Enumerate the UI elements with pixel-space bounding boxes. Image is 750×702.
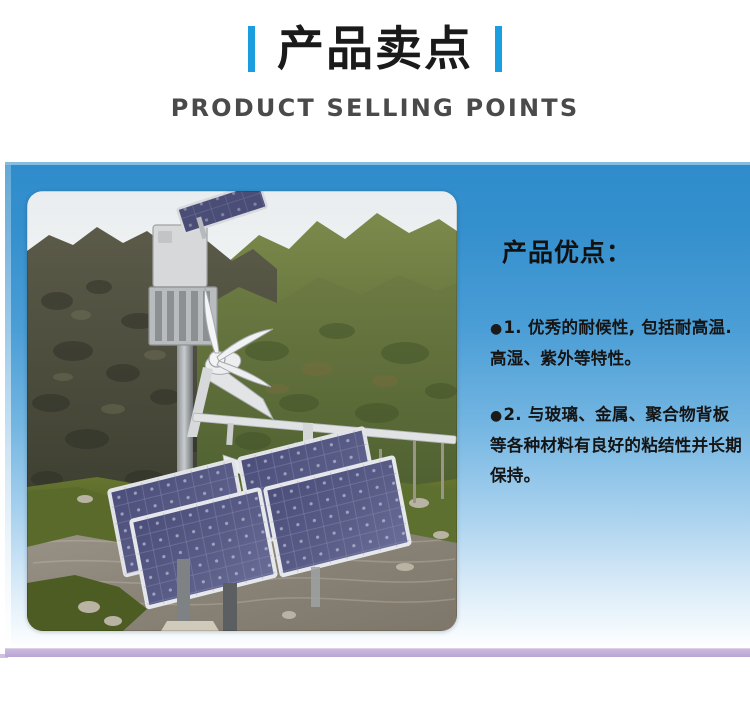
page-subtitle: PRODUCT SELLING POINTS — [0, 94, 750, 122]
divider-bar — [5, 648, 750, 657]
feature-panel: 产品优点： ●1. 优秀的耐候性, 包括耐高温. 高湿、紫外等特性。 ●2. 与… — [5, 162, 750, 649]
product-photo-illustration — [27, 191, 457, 631]
page-header: 产品卖点 PRODUCT SELLING POINTS — [0, 0, 750, 122]
benefits-heading: 产品优点： — [502, 233, 742, 269]
product-photo — [27, 191, 457, 631]
bullet-dot-icon: ● — [490, 408, 503, 424]
benefit-text: 1. 优秀的耐候性, 包括耐高温. 高湿、紫外等特性。 — [490, 318, 732, 368]
benefit-item: ●1. 优秀的耐候性, 包括耐高温. 高湿、紫外等特性。 — [490, 313, 742, 374]
title-row: 产品卖点 — [0, 18, 750, 80]
accent-bar-right-icon — [495, 26, 502, 72]
panel-left-fade — [5, 165, 11, 649]
benefits-copy: 产品优点： ●1. 优秀的耐候性, 包括耐高温. 高湿、紫外等特性。 ●2. 与… — [490, 233, 742, 518]
bottom-divider — [0, 648, 750, 658]
bullet-dot-icon: ● — [490, 321, 503, 337]
page-title: 产品卖点 — [277, 26, 473, 73]
benefit-text: 2. 与玻璃、金属、聚合物背板等各种材料有良好的粘结性并长期保持。 — [490, 405, 742, 485]
benefit-item: ●2. 与玻璃、金属、聚合物背板等各种材料有良好的粘结性并长期保持。 — [490, 400, 742, 492]
accent-bar-left-icon — [248, 26, 255, 72]
